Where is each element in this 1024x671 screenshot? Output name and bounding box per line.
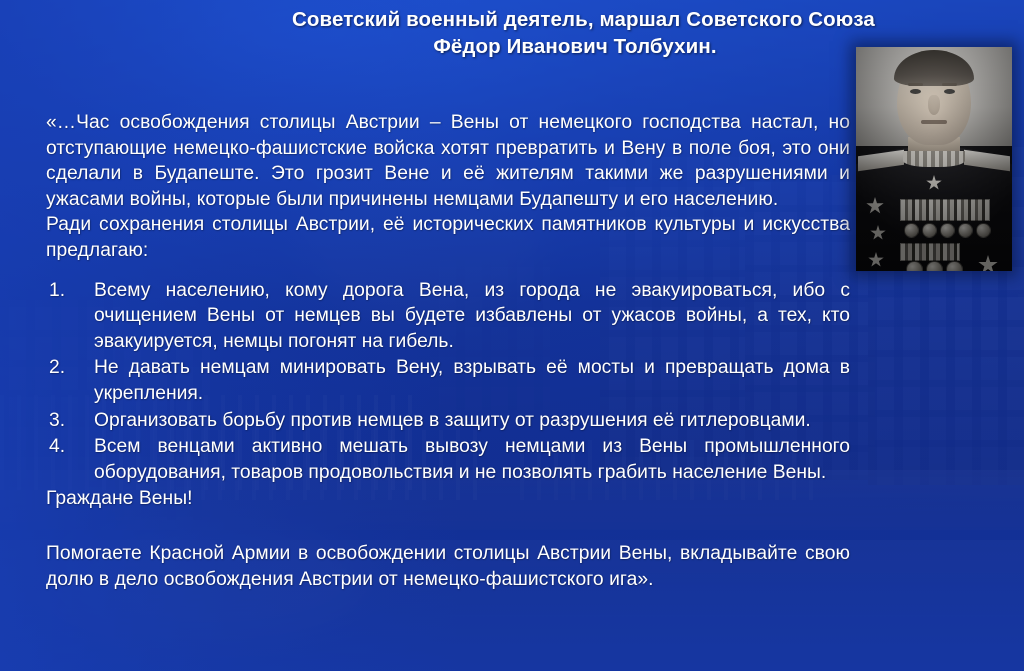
medal-1 (904, 223, 919, 238)
list-item: 2. Не давать немцам минировать Вену, взр… (46, 355, 850, 406)
speech-content: «…Час освобождения столицы Австрии – Вен… (46, 110, 850, 592)
ribbon-bar-lower (900, 243, 960, 261)
page-title: Советский военный деятель, маршал Советс… (292, 6, 858, 60)
medal-8 (946, 261, 963, 271)
medal-5 (976, 223, 991, 238)
portrait-eye-right (944, 89, 955, 94)
medal-6 (906, 261, 923, 271)
list-item-number: 3. (49, 408, 79, 434)
address-line: Граждане Вены! (46, 486, 850, 512)
portrait-eye-left (910, 89, 921, 94)
medal-7 (926, 261, 943, 271)
medal-2 (922, 223, 937, 238)
list-item-number: 1. (49, 278, 79, 304)
list-item-number: 4. (49, 434, 79, 460)
ribbon-bar-upper (900, 199, 990, 221)
list-item-text: Не давать немцам минировать Вену, взрыва… (94, 357, 850, 404)
portrait-brow-right (942, 83, 957, 86)
medal-3 (940, 223, 955, 238)
portrait-brow-left (908, 83, 923, 86)
medal-4 (958, 223, 973, 238)
paragraph-proposal: Ради сохранения столицы Австрии, её исто… (46, 212, 850, 263)
list-item: 3. Организовать борьбу против немцев в з… (46, 408, 850, 434)
demands-list: 1. Всему населению, кому дорога Вена, из… (46, 278, 850, 486)
list-item-text: Всему населению, кому дорога Вена, из го… (94, 280, 850, 352)
list-item-text: Всем венцами активно мешать вывозу немца… (94, 436, 850, 483)
portrait-photo (856, 47, 1012, 271)
list-item-number: 2. (49, 355, 79, 381)
page-title-line-1: Советский военный деятель, маршал Советс… (292, 6, 858, 33)
list-item: 4. Всем венцами активно мешать вывозу не… (46, 434, 850, 485)
list-item-text: Организовать борьбу против немцев в защи… (94, 410, 811, 431)
paragraph-intro: «…Час освобождения столицы Австрии – Вен… (46, 110, 850, 212)
page-title-line-2: Фёдор Иванович Толбухин. (292, 33, 858, 60)
paragraph-closing: Помогаете Красной Армии в освобождении с… (46, 541, 850, 592)
portrait-mouth (921, 120, 947, 124)
list-item: 1. Всему населению, кому дорога Вена, из… (46, 278, 850, 355)
portrait-collar (903, 151, 965, 167)
slide-root: Советский военный деятель, маршал Советс… (0, 0, 1024, 671)
portrait-nose (928, 95, 940, 115)
